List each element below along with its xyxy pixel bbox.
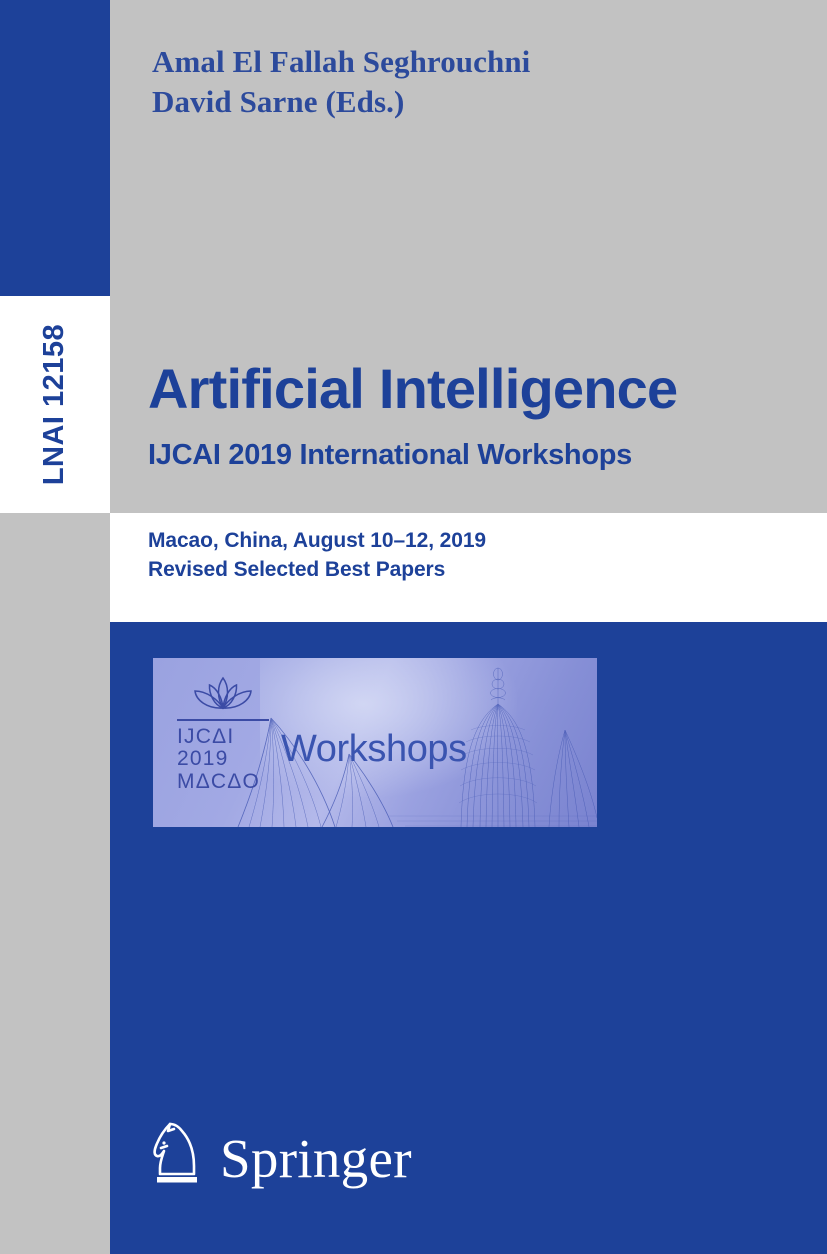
ijcai-logo-lockup: IJCΔI 2019 MΔCΔO bbox=[177, 675, 269, 793]
title-block: Artificial Intelligence IJCAI 2019 Inter… bbox=[148, 360, 808, 472]
ijcai-workshops-banner: IJCΔI 2019 MΔCΔO Workshops bbox=[153, 658, 597, 827]
book-subtitle: IJCAI 2019 International Workshops bbox=[148, 439, 808, 472]
springer-knight-icon bbox=[148, 1118, 206, 1190]
ijcai-logo-line-2: 2019 bbox=[177, 748, 269, 770]
banner-title-workshops: Workshops bbox=[281, 728, 467, 771]
springer-logo: Springer bbox=[148, 1118, 412, 1190]
book-title: Artificial Intelligence bbox=[148, 360, 808, 417]
ijcai-logo-line-3: MΔCΔO bbox=[177, 771, 269, 793]
editor-name-line-1: Amal El Fallah Seghrouchni bbox=[152, 42, 772, 82]
editor-names: Amal El Fallah Seghrouchni David Sarne (… bbox=[152, 42, 772, 123]
series-label: LNAI 12158 bbox=[0, 296, 110, 513]
series-label-text: LNAI 12158 bbox=[39, 324, 72, 485]
book-cover: LNAI 12158 Amal El Fallah Seghrouchni Da… bbox=[0, 0, 827, 1254]
spine-blue-block bbox=[0, 0, 110, 296]
lockup-divider-rule bbox=[177, 719, 269, 721]
springer-wordmark: Springer bbox=[220, 1131, 412, 1190]
conference-location-dates: Macao, China, August 10–12, 2019 bbox=[148, 527, 768, 556]
editor-name-line-2: David Sarne (Eds.) bbox=[152, 82, 772, 122]
lotus-flower-icon bbox=[190, 675, 256, 715]
conference-info: Macao, China, August 10–12, 2019 Revised… bbox=[148, 527, 768, 585]
ijcai-logo-line-1: IJCΔI bbox=[177, 726, 269, 748]
conference-proceedings-note: Revised Selected Best Papers bbox=[148, 556, 768, 585]
